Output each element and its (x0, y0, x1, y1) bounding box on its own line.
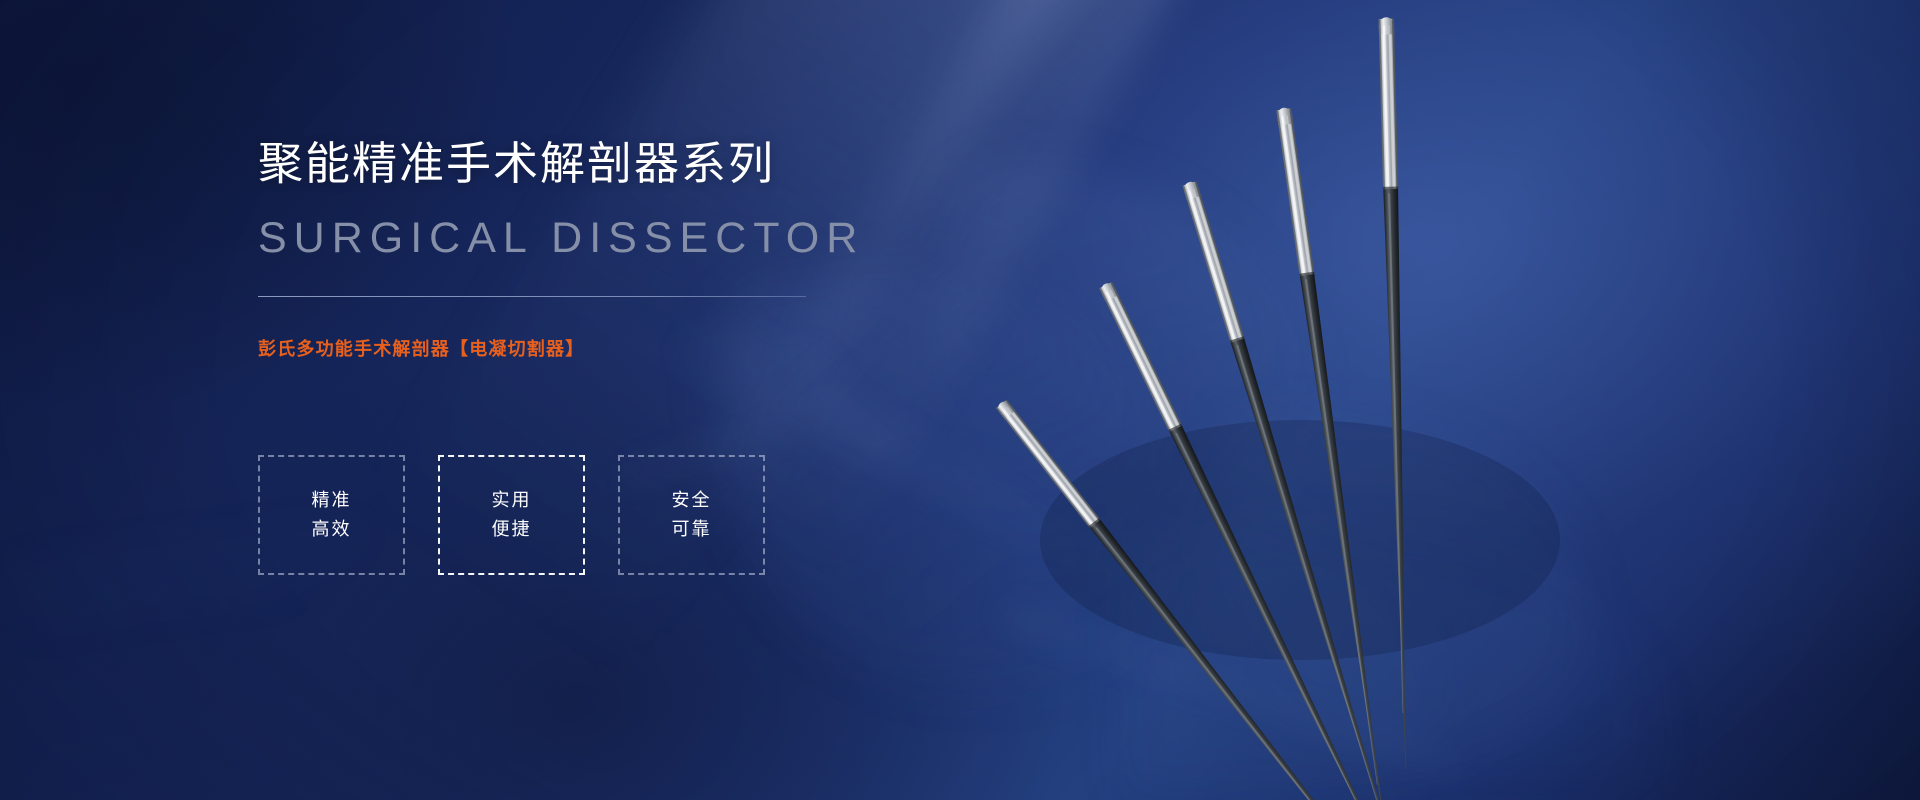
feature-badge-practical: 实用 便捷 (438, 455, 585, 575)
feature-badge-line2: 可靠 (672, 515, 712, 544)
banner-text-block: 聚能精准手术解剖器系列 SURGICAL DISSECTOR 彭氏多功能手术解剖… (258, 0, 1158, 800)
title-divider (258, 296, 806, 297)
feature-badge-precision: 精准 高效 (258, 455, 405, 575)
product-name-label: 彭氏多功能手术解剖器【电凝切割器】 (258, 336, 584, 363)
product-banner: 聚能精准手术解剖器系列 SURGICAL DISSECTOR 彭氏多功能手术解剖… (0, 0, 1920, 800)
feature-badge-safety: 安全 可靠 (618, 455, 765, 575)
feature-badge-line2: 便捷 (492, 515, 532, 544)
page-subtitle-english: SURGICAL DISSECTOR (258, 214, 864, 262)
feature-badge-line1: 精准 (312, 486, 352, 515)
feature-badge-line1: 安全 (672, 486, 712, 515)
page-title: 聚能精准手术解剖器系列 (258, 137, 775, 190)
feature-badge-line2: 高效 (312, 515, 352, 544)
feature-badge-list: 精准 高效 实用 便捷 安全 可靠 (258, 455, 765, 575)
feature-badge-line1: 实用 (492, 486, 532, 515)
